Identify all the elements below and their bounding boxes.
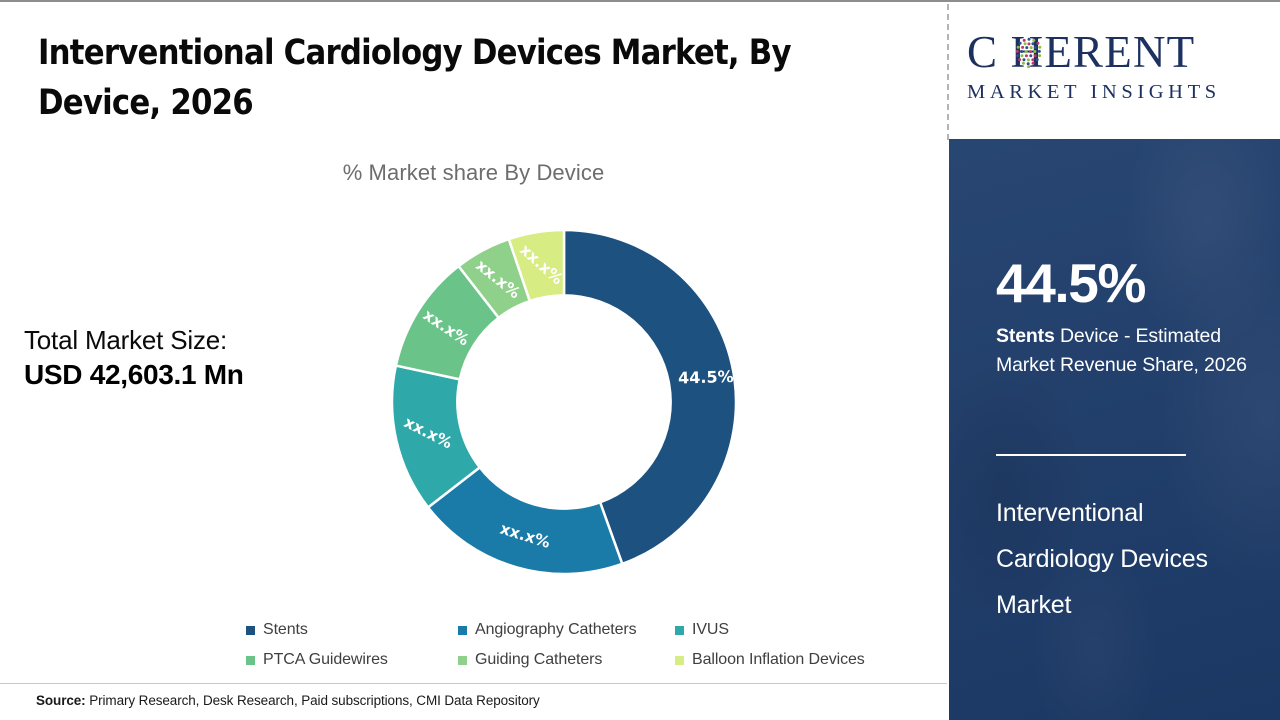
legend-label: IVUS <box>692 621 729 639</box>
infographic-slide: Interventional Cardiology Devices Market… <box>0 0 1280 720</box>
globe-dots-icon <box>1012 35 1046 69</box>
logo-area: C HERENT <box>949 2 1280 138</box>
legend-swatch-icon <box>246 656 255 665</box>
donut-chart-svg: 44.5%xx.x%xx.x%xx.x%xx.x%xx.x% <box>388 226 740 578</box>
legend-label: PTCA Guidewires <box>263 651 388 669</box>
legend-row-2: PTCA Guidewires Guiding Catheters Balloo… <box>246 645 926 675</box>
legend-item-guiding-catheters[interactable]: Guiding Catheters <box>458 651 675 669</box>
legend-item-stents[interactable]: Stents <box>246 621 458 639</box>
panel-divider <box>996 454 1186 456</box>
legend-label: Stents <box>263 621 308 639</box>
footer-divider <box>0 683 947 684</box>
total-market-size-value: USD 42,603.1 Mn <box>24 357 324 393</box>
legend-row-1: Stents Angiography Catheters IVUS <box>246 615 926 645</box>
panel-texture <box>949 139 1280 720</box>
chart-subtitle: % Market share By Device <box>0 160 947 186</box>
legend-label: Guiding Catheters <box>475 651 602 669</box>
total-market-size-label: Total Market Size: <box>24 324 324 357</box>
source-label: Source: <box>36 693 86 708</box>
legend-swatch-icon <box>458 626 467 635</box>
legend-item-balloon-inflation-devices[interactable]: Balloon Inflation Devices <box>675 651 915 669</box>
brand-logo-wordmark: C HERENT <box>967 28 1263 76</box>
main-content: Interventional Cardiology Devices Market… <box>0 2 947 720</box>
donut-chart: 44.5%xx.x%xx.x%xx.x%xx.x%xx.x% <box>388 226 740 578</box>
brand-logo: C HERENT <box>967 28 1263 104</box>
legend-label: Balloon Inflation Devices <box>692 651 865 669</box>
source-text: Primary Research, Desk Research, Paid su… <box>86 693 540 708</box>
source-note: Source: Primary Research, Desk Research,… <box>36 693 540 708</box>
highlight-panel: 44.5% Stents Device - Estimated Market R… <box>949 139 1280 720</box>
total-market-size: Total Market Size: USD 42,603.1 Mn <box>24 324 324 393</box>
legend-swatch-icon <box>675 626 684 635</box>
stat-description: Stents Device - Estimated Market Revenue… <box>996 322 1254 380</box>
legend-label: Angiography Catheters <box>475 621 637 639</box>
legend-item-ptca-guidewires[interactable]: PTCA Guidewires <box>246 651 458 669</box>
stat-value: 44.5% <box>996 256 1145 311</box>
legend-swatch-icon <box>675 656 684 665</box>
brand-logo-text: C HERENT <box>967 27 1195 77</box>
legend-item-angiography-catheters[interactable]: Angiography Catheters <box>458 621 675 639</box>
legend-swatch-icon <box>458 656 467 665</box>
donut-slice-label: 44.5% <box>678 367 734 388</box>
brand-logo-tagline: MARKET INSIGHTS <box>967 81 1263 104</box>
legend-swatch-icon <box>246 626 255 635</box>
panel-market-name: Interventional Cardiology Devices Market <box>996 491 1258 628</box>
chart-legend: Stents Angiography Catheters IVUS PTCA G… <box>246 615 926 675</box>
legend-item-ivus[interactable]: IVUS <box>675 621 915 639</box>
page-title: Interventional Cardiology Devices Market… <box>38 28 795 129</box>
stat-description-device: Stents <box>996 325 1055 347</box>
